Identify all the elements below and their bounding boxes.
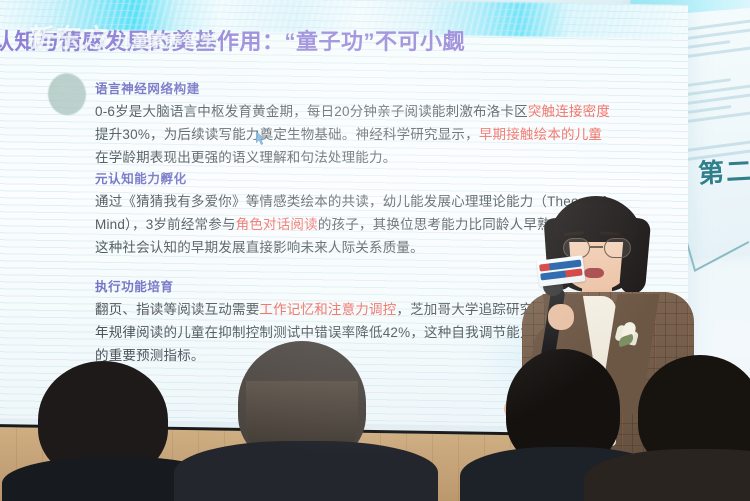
slide-title: 认知与情感发展的奠基作用：“童子功”不可小觑: [0, 24, 552, 56]
speaker-hair-fringe: [554, 202, 638, 242]
eyeglasses-icon: [562, 238, 632, 258]
audience-shoulders: [174, 441, 438, 501]
section-heading-2: 元认知能力孵化: [95, 168, 187, 187]
run-text: 翻页、指读等阅读互动需要: [95, 302, 259, 317]
flower-corsage-icon: [616, 320, 642, 346]
audience-member-4: [600, 355, 750, 501]
speaker-hand-mic: [548, 304, 574, 330]
run-highlight: 早期接触绘本的儿童: [479, 127, 602, 142]
secondary-panel-title: 第二: [697, 151, 750, 191]
run-text: 提升30%，为后续读写能力奠定生物基础。神经科学研究显示，: [95, 127, 479, 142]
audience-shoulders: [584, 449, 750, 501]
speaker-mouth: [584, 268, 604, 278]
section-heading-3: 执行功能培育: [95, 276, 174, 295]
run-text: 在学龄期表现出更强的语义理解和句法处理能力。: [95, 150, 396, 165]
section-body-1: 0-6岁是大脑语言中枢发育黄金期，每日20分钟亲子阅读能刺激布洛卡区突触连接密度…: [95, 100, 615, 169]
audience-member-2: [186, 341, 426, 501]
photo-scene: 第二 认知与情感发展的奠基作用：“童子功”不可小觑 新东方儿童素养智学 语言神经…: [0, 0, 750, 501]
run-text: 0-6岁是大脑语言中枢发育黄金期，每日20分钟亲子阅读能刺激布洛卡区: [95, 104, 528, 119]
slide-decorative-circle: [48, 73, 86, 116]
run-highlight: 角色对话阅读: [236, 217, 318, 232]
section-heading-1: 语言神经网络构建: [95, 78, 200, 97]
microphone-flag-badge: [537, 255, 586, 286]
run-highlight: 工作记忆和注意力调控: [259, 302, 396, 317]
run-highlight: 突触连接密度: [528, 104, 610, 119]
glasses-bridge: [590, 246, 603, 248]
lens-right: [604, 238, 631, 258]
